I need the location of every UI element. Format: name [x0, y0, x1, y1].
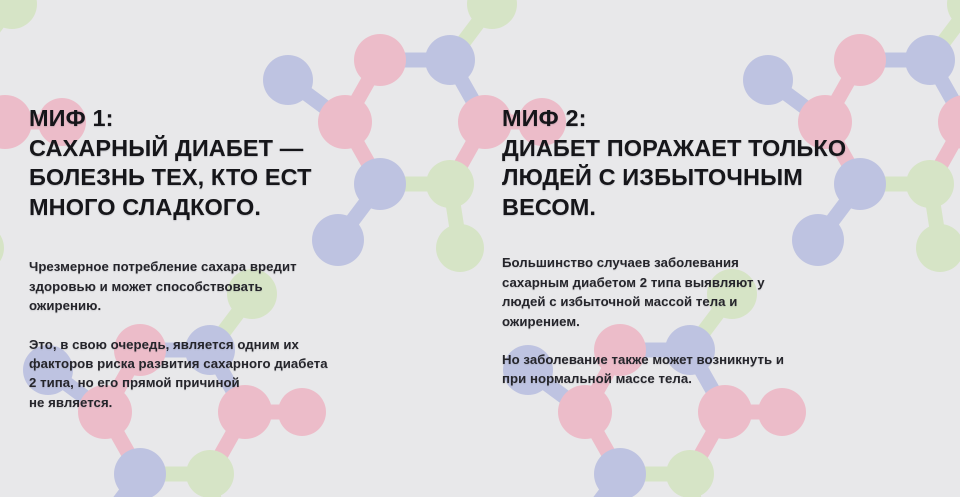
myth-1-heading: МИФ 1: САХАРНЫЙ ДИАБЕТ — БОЛЕЗНЬ ТЕХ, КТ…: [29, 104, 440, 222]
myth-2-paragraph-2: Но заболевание также может возникнуть и …: [502, 350, 934, 389]
slide-body: МИФ 1: САХАРНЫЙ ДИАБЕТ — БОЛЕЗНЬ ТЕХ, КТ…: [0, 0, 960, 497]
myth-2-body: Большинство случаев заболевания сахарным…: [502, 253, 934, 388]
myth-1-paragraph-1: Чрезмерное потребление сахара вредит здо…: [29, 257, 440, 315]
myth-column-1: МИФ 1: САХАРНЫЙ ДИАБЕТ — БОЛЕЗНЬ ТЕХ, КТ…: [0, 0, 480, 497]
myth-1-body: Чрезмерное потребление сахара вредит здо…: [29, 257, 440, 412]
myth-2-heading: МИФ 2: ДИАБЕТ ПОРАЖАЕТ ТОЛЬКО ЛЮДЕЙ С ИЗ…: [502, 104, 934, 222]
myth-1-paragraph-2: Это, в свою очередь, является одним их ф…: [29, 335, 440, 413]
myth-column-2: МИФ 2: ДИАБЕТ ПОРАЖАЕТ ТОЛЬКО ЛЮДЕЙ С ИЗ…: [480, 0, 960, 497]
myth-2-paragraph-1: Большинство случаев заболевания сахарным…: [502, 253, 934, 331]
